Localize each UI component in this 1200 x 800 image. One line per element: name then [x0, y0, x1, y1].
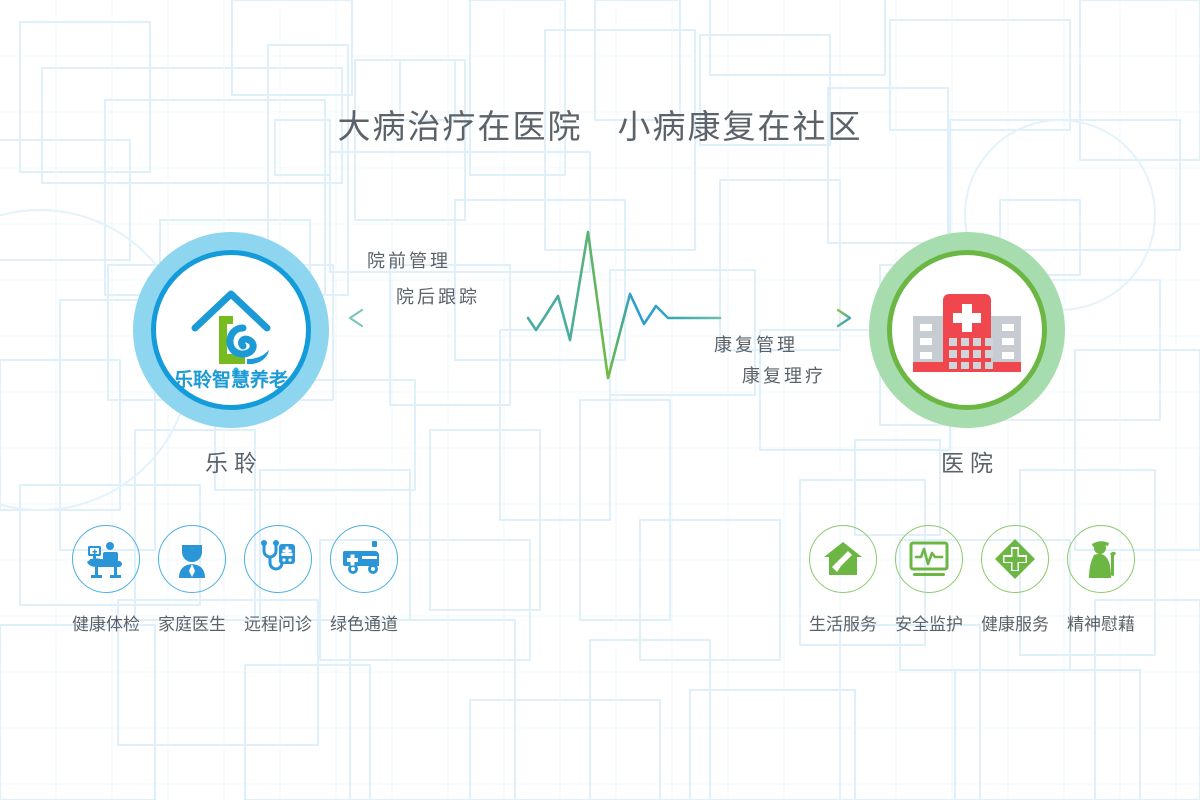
logo-wordmark: 乐聆智慧养老: [174, 368, 288, 391]
ambulance-green-channel-icon: [342, 539, 386, 579]
flow-label-rehab-management: 康复管理: [714, 331, 798, 357]
service-label: 精神慰藉: [1067, 610, 1135, 635]
health-checkup-icon: [84, 537, 128, 581]
service-circle: [981, 525, 1049, 593]
service-label: 生活服务: [809, 610, 877, 635]
safety-monitor-icon: [907, 539, 951, 579]
elderly-care-icon: [1080, 538, 1122, 580]
left-node-leling[interactable]: 乐聆智慧养老: [133, 232, 329, 428]
service-label: 绿色通道: [330, 610, 398, 635]
flow-label-pre-admission: 院前管理: [367, 247, 451, 273]
ecg-heartbeat-line-icon: [528, 232, 720, 378]
service-item-safety-monitoring[interactable]: 安全监护: [886, 525, 972, 635]
remote-consultation-icon: [257, 538, 299, 580]
infographic-canvas: 大病治疗在医院 小病康复在社区 乐聆智慧养老 乐聆: [0, 0, 1200, 800]
flow-label-post-discharge: 院后跟踪: [396, 283, 480, 309]
service-item-spiritual-comfort[interactable]: 精神慰藉: [1058, 525, 1144, 635]
right-service-list: 生活服务 安全监护 健康服务: [800, 525, 1144, 635]
hospital-building-icon: [895, 258, 1039, 402]
service-circle: [244, 525, 312, 593]
home-care-logo-icon: 乐聆智慧养老: [159, 258, 303, 402]
right-node-hospital[interactable]: [869, 232, 1065, 428]
service-item-health-service[interactable]: 健康服务: [972, 525, 1058, 635]
service-label: 健康服务: [981, 610, 1049, 635]
service-circle: [330, 525, 398, 593]
service-label: 家庭医生: [158, 610, 226, 635]
family-doctor-icon: [171, 538, 213, 580]
service-label: 安全监护: [895, 610, 963, 635]
service-item-health-checkup[interactable]: 健康体检: [63, 525, 149, 635]
medical-cross-icon: [994, 538, 1036, 580]
right-node-label: 医院: [857, 444, 1077, 478]
left-service-list: 健康体检 家庭医生: [63, 525, 407, 635]
page-title: 大病治疗在医院 小病康复在社区: [0, 100, 1200, 148]
service-label: 健康体检: [72, 610, 140, 635]
service-label: 远程问诊: [244, 610, 312, 635]
service-circle: [895, 525, 963, 593]
service-item-life-service[interactable]: 生活服务: [800, 525, 886, 635]
service-circle: [72, 525, 140, 593]
service-item-green-channel[interactable]: 绿色通道: [321, 525, 407, 635]
service-circle: [809, 525, 877, 593]
left-node-label: 乐聆: [121, 444, 341, 478]
service-item-family-doctor[interactable]: 家庭医生: [149, 525, 235, 635]
service-circle: [1067, 525, 1135, 593]
flow-label-rehab-therapy: 康复理疗: [742, 362, 826, 388]
service-item-remote-consultation[interactable]: 远程问诊: [235, 525, 321, 635]
home-cleaning-icon: [822, 538, 864, 580]
service-circle: [158, 525, 226, 593]
